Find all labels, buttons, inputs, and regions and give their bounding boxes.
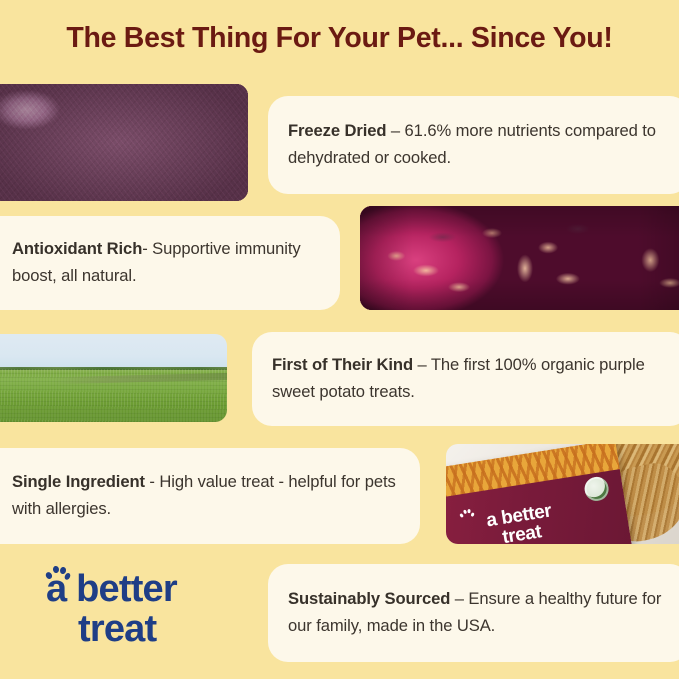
infographic-root: The Best Thing For Your Pet... Since You… [0,0,679,679]
photo-raw-purple-sweet-potatoes [360,206,679,310]
feature-heading: Sustainably Sourced [288,589,450,608]
photo-shading-layer [0,84,248,201]
feature-text: Freeze Dried – 61.6% more nutrients comp… [268,118,679,172]
photo-product-pouch-with-dog: a better treat ORGANIC SW FREEZE [446,444,679,544]
feature-card-single-ingredient: Single Ingredient - High value treat - h… [0,448,420,544]
feature-text: Sustainably Sourced – Ensure a healthy f… [268,586,679,640]
paw-print-icon [46,566,70,585]
feature-card-antioxidant-rich: Antioxidant Rich- Supportive immunity bo… [0,216,340,310]
feature-heading: Single Ingredient [12,472,145,491]
feature-heading: Freeze Dried [288,121,386,140]
feature-text: First of Their Kind – The first 100% org… [252,352,679,406]
page-title: The Best Thing For Your Pet... Since You… [0,22,679,55]
feature-text: Antioxidant Rich- Supportive immunity bo… [0,236,340,290]
feature-card-sustainably-sourced: Sustainably Sourced – Ensure a healthy f… [268,564,679,662]
photo-shading-layer [360,206,679,310]
brand-line-2: treat [20,610,250,650]
feature-card-freeze-dried: Freeze Dried – 61.6% more nutrients comp… [268,96,679,194]
feature-heading: First of Their Kind [272,355,413,374]
photo-freeze-dried-treat-pieces [0,84,248,201]
brand-logo: a better treat [20,570,250,649]
feature-text: Single Ingredient - High value treat - h… [0,469,420,523]
feature-card-first-of-their-kind: First of Their Kind – The first 100% org… [252,332,679,426]
feature-heading: Antioxidant Rich [12,239,142,258]
photo-green-farm-field [0,334,227,422]
